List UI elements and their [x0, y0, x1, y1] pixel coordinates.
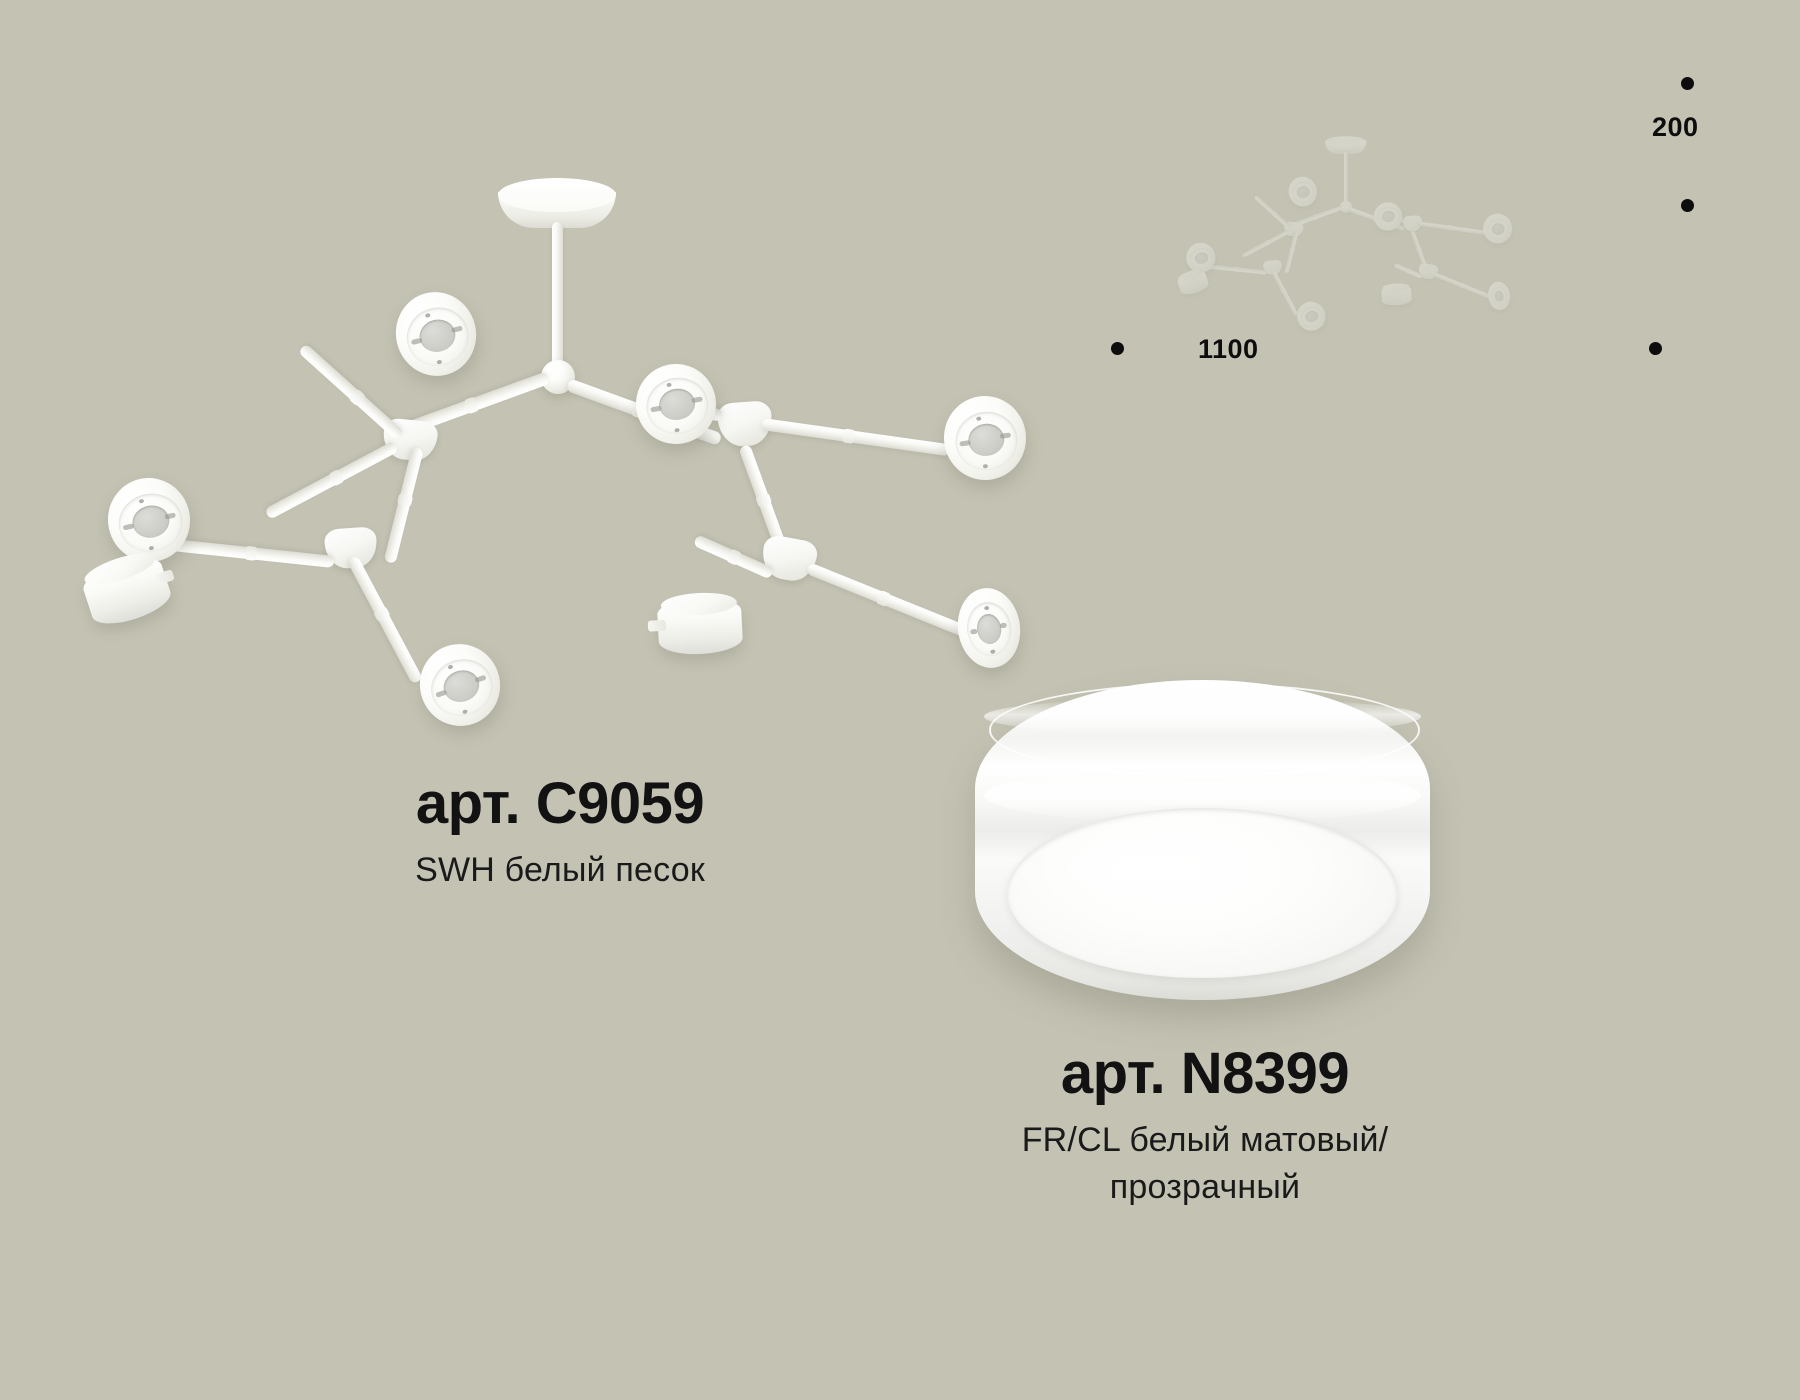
thumb-lamp-head-upper-right	[1372, 200, 1405, 233]
thumb-arm-to-head-upper-left	[1254, 195, 1292, 230]
thumb-downrod	[1344, 152, 1348, 206]
arm-to-head-upper-left	[298, 343, 404, 440]
downrod	[552, 222, 563, 374]
diffuser-matte-lens	[1007, 808, 1398, 978]
diffuser-top-rim	[989, 683, 1421, 777]
lamp-head-center-low	[657, 596, 744, 656]
thumb-arm-right-outer	[1418, 221, 1485, 235]
dim-marker-width-right	[1649, 342, 1662, 355]
thumb-lamp-head-bottom-right	[1486, 280, 1512, 311]
thumb-lamp-head-center-low	[1381, 285, 1412, 306]
dim-marker-height-top	[1681, 77, 1694, 90]
caption-article-diffuser: арт. N8399	[885, 1045, 1525, 1103]
thumb-lamp-head-upper-left	[1285, 174, 1320, 210]
caption-article-chandelier: арт. C9059	[240, 775, 880, 833]
arm-left-outer	[264, 441, 399, 520]
lamp-head-mid-right	[939, 391, 1032, 486]
thumb-lamp-head-bottom-left	[1293, 298, 1329, 334]
thumb-arm-left-outer	[1242, 229, 1290, 257]
dim-marker-height-bottom	[1681, 199, 1694, 212]
thumb-arm-left-down	[1284, 232, 1298, 274]
lamp-head-bottom-left	[409, 634, 510, 737]
arm-left-down	[384, 447, 424, 564]
lamp-head-bottom-right	[953, 584, 1026, 672]
product-illustration-chandelier	[0, 0, 1100, 780]
arm-right-outer	[761, 418, 951, 456]
thumb-arm-to-head-bottom-right	[1434, 273, 1494, 301]
caption-finish-diffuser: FR/CL белый матовый/ прозрачный	[885, 1117, 1525, 1211]
spec-sheet-canvas: арт. C9059 SWH белый песок арт. N8399 FR…	[0, 0, 1800, 1400]
lamp-head-upper-left	[387, 284, 485, 385]
arm-to-head-bottom-right	[806, 562, 976, 640]
dim-marker-width-left	[1111, 342, 1124, 355]
arm-to-head-center-low	[693, 534, 775, 579]
caption-chandelier: арт. C9059 SWH белый песок	[240, 775, 880, 894]
thumb-lamp-head-mid-right	[1481, 212, 1514, 246]
thumb-lamp-head-lower-left	[1176, 269, 1210, 298]
lamp-head-lower-left	[79, 551, 175, 632]
lamp-head-upper-right	[630, 358, 723, 451]
dim-label-width: 1100	[1198, 334, 1259, 365]
caption-finish-chandelier: SWH белый песок	[240, 847, 880, 894]
caption-diffuser: арт. N8399 FR/CL белый матовый/ прозрачн…	[885, 1045, 1525, 1211]
product-illustration-diffuser	[975, 680, 1430, 1000]
dim-label-height: 200	[1652, 112, 1699, 143]
